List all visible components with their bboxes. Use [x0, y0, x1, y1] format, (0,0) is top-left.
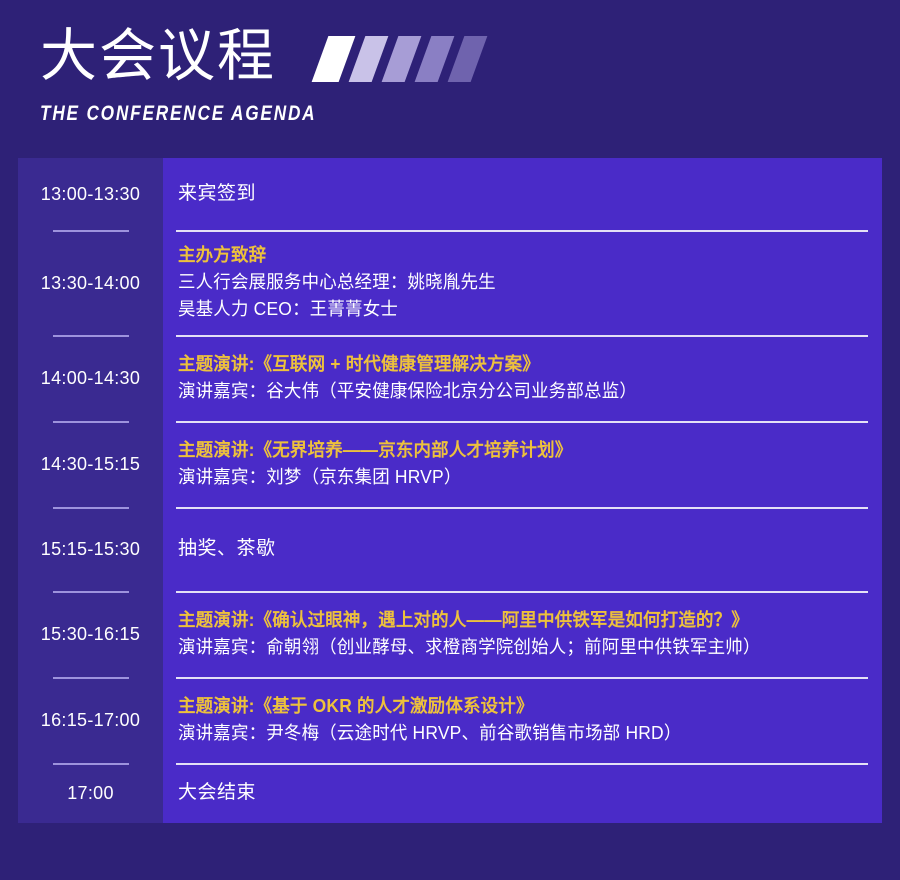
agenda-time-cell: 17:00 — [18, 763, 163, 823]
agenda-session-detail: 演讲嘉宾：刘梦（京东集团 HRVP） — [178, 464, 462, 491]
slash-stripe-2 — [349, 36, 389, 82]
agenda-time-text: 13:00-13:30 — [41, 182, 140, 206]
page-header: 大会议程 THE CONFERENCE AGENDA — [0, 0, 900, 158]
agenda-time-cell: 15:15-15:30 — [18, 507, 163, 591]
agenda-time-text: 15:30-16:15 — [41, 622, 140, 646]
page-subtitle: THE CONFERENCE AGENDA — [40, 101, 316, 127]
agenda-content-cell: 主办方致辞三人行会展服务中心总经理：姚晓胤先生昊基人力 CEO：王菁菁女士 — [163, 230, 882, 335]
agenda-session-label: 抽奖、茶歇 — [178, 535, 276, 563]
agenda-content-cell: 主题演讲:《无界培养——京东内部人才培养计划》演讲嘉宾：刘梦（京东集团 HRVP… — [163, 421, 882, 507]
agenda-content-column: 来宾签到主办方致辞三人行会展服务中心总经理：姚晓胤先生昊基人力 CEO：王菁菁女… — [163, 158, 882, 823]
agenda-time-text: 13:30-14:00 — [41, 271, 140, 295]
agenda-time-cell: 14:30-15:15 — [18, 421, 163, 507]
agenda-time-column: 13:00-13:3013:30-14:0014:00-14:3014:30-1… — [18, 158, 163, 823]
agenda-session-title: 主题演讲:《确认过眼神，遇上对的人——阿里中供铁军是如何打造的？》 — [178, 607, 749, 634]
slash-stripe-4 — [415, 36, 455, 82]
agenda-content-cell: 主题演讲:《互联网 + 时代健康管理解决方案》演讲嘉宾：谷大伟（平安健康保险北京… — [163, 335, 882, 421]
page-title: 大会议程 — [40, 22, 276, 90]
slash-stripe-5 — [448, 36, 488, 82]
agenda-time-text: 16:15-17:00 — [41, 708, 140, 732]
agenda-session-detail: 三人行会展服务中心总经理：姚晓胤先生 — [178, 269, 496, 296]
agenda-session-detail: 昊基人力 CEO：王菁菁女士 — [178, 296, 398, 323]
agenda-time-cell: 14:00-14:30 — [18, 335, 163, 421]
agenda-content-cell: 抽奖、茶歇 — [163, 507, 882, 591]
agenda-content-cell: 主题演讲:《确认过眼神，遇上对的人——阿里中供铁军是如何打造的？》演讲嘉宾：俞朝… — [163, 591, 882, 677]
agenda-table: 13:00-13:3013:30-14:0014:00-14:3014:30-1… — [18, 158, 882, 823]
agenda-session-title: 主题演讲:《互联网 + 时代健康管理解决方案》 — [178, 351, 540, 378]
agenda-time-text: 14:00-14:30 — [41, 366, 140, 390]
slash-stripe-1 — [312, 36, 356, 82]
slash-stripe-3 — [382, 36, 422, 82]
agenda-time-text: 17:00 — [67, 781, 114, 805]
agenda-time-cell: 13:00-13:30 — [18, 158, 163, 230]
agenda-session-title: 主办方致辞 — [178, 242, 266, 269]
agenda-session-detail: 演讲嘉宾：俞朝翎（创业酵母、求橙商学院创始人；前阿里中供铁军主帅） — [178, 634, 761, 661]
agenda-content-cell: 大会结束 — [163, 763, 882, 823]
agenda-session-title: 主题演讲:《基于 OKR 的人才激励体系设计》 — [178, 693, 534, 720]
agenda-session-detail: 演讲嘉宾：谷大伟（平安健康保险北京分公司业务部总监） — [178, 378, 637, 405]
agenda-time-cell: 15:30-16:15 — [18, 591, 163, 677]
slash-stripes-icon — [310, 36, 485, 82]
agenda-time-text: 14:30-15:15 — [41, 452, 140, 476]
agenda-time-cell: 13:30-14:00 — [18, 230, 163, 335]
agenda-session-label: 来宾签到 — [178, 180, 256, 208]
agenda-time-cell: 16:15-17:00 — [18, 677, 163, 763]
agenda-content-cell: 来宾签到 — [163, 158, 882, 230]
agenda-session-title: 主题演讲:《无界培养——京东内部人才培养计划》 — [178, 437, 572, 464]
agenda-time-text: 15:15-15:30 — [41, 537, 140, 561]
agenda-session-detail: 演讲嘉宾：尹冬梅（云途时代 HRVP、前谷歌销售市场部 HRD） — [178, 720, 682, 747]
agenda-session-label: 大会结束 — [178, 779, 256, 807]
agenda-content-cell: 主题演讲:《基于 OKR 的人才激励体系设计》演讲嘉宾：尹冬梅（云途时代 HRV… — [163, 677, 882, 763]
